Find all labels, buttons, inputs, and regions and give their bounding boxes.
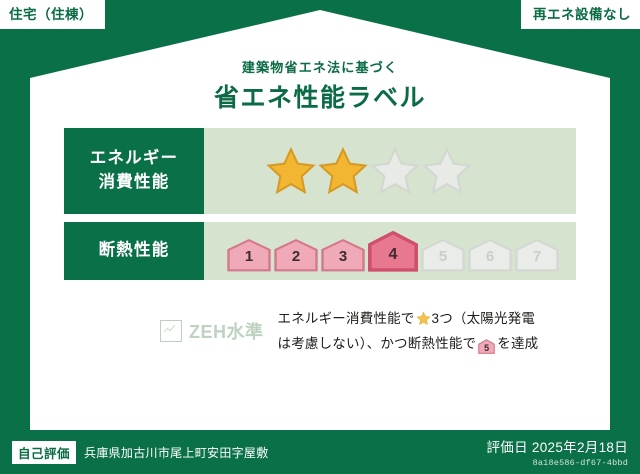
grade-badge: 6 bbox=[467, 238, 513, 272]
building-type-tag: 住宅（住棟） bbox=[0, 0, 105, 29]
inline-grade-value: 5 bbox=[478, 339, 495, 358]
title-subtitle: 建築物省エネ法に基づく bbox=[0, 57, 640, 76]
star-filled-icon bbox=[266, 146, 316, 196]
footer-right: 評価日 2025年2月18日 8a18e586-df67-4bbd bbox=[486, 436, 628, 468]
grade-value: 7 bbox=[533, 249, 541, 272]
insulation-performance-row: 断熱性能 1234567 bbox=[64, 222, 576, 280]
energy-performance-row: エネルギー 消費性能 bbox=[64, 128, 576, 214]
inline-star-icon bbox=[416, 311, 431, 333]
note-text-2: 3つ（太陽光発電 bbox=[432, 311, 536, 326]
note-text-3: は考慮しない）、かつ断熱性能で bbox=[278, 336, 477, 351]
grade-value: 1 bbox=[245, 249, 253, 272]
zeh-checkbox-icon bbox=[160, 320, 182, 342]
zeh-label: ZEH水準 bbox=[189, 318, 264, 344]
grade-value: 3 bbox=[339, 249, 347, 272]
grade-scale: 1234567 bbox=[226, 230, 560, 272]
grade-value: 2 bbox=[292, 249, 300, 272]
grade-value: 6 bbox=[486, 249, 494, 272]
energy-label-line1: エネルギー bbox=[90, 147, 179, 171]
label-footer: 自己評価 兵庫県加古川市尾上町安田字屋敷 評価日 2025年2月18日 8a18… bbox=[0, 430, 640, 474]
star-rating bbox=[266, 146, 472, 196]
star-empty-icon bbox=[422, 146, 472, 196]
renewable-energy-tag: 再エネ設備なし bbox=[521, 0, 640, 29]
star-filled-icon bbox=[318, 146, 368, 196]
page-title: 省エネ性能ラベル bbox=[0, 78, 640, 114]
energy-performance-label: 住宅（住棟） 再エネ設備なし 建築物省エネ法に基づく 省エネ性能ラベル エネルギ… bbox=[0, 0, 640, 474]
grade-badge: 3 bbox=[320, 238, 366, 272]
inline-grade-badge: 5 bbox=[478, 339, 495, 354]
evaluation-date: 評価日 2025年2月18日 bbox=[486, 436, 628, 456]
energy-performance-value bbox=[204, 128, 576, 214]
zeh-note: ZEH水準 エネルギー消費性能で3つ（太陽光発電 は考慮しない）、かつ断熱性能で… bbox=[160, 308, 610, 355]
performance-content: エネルギー 消費性能 断熱性能 1234567 bbox=[30, 128, 610, 355]
grade-badge: 5 bbox=[420, 238, 466, 272]
grade-badge: 4 bbox=[367, 230, 419, 272]
grade-value: 5 bbox=[439, 249, 447, 272]
grade-badge: 1 bbox=[226, 238, 272, 272]
insulation-label-text: 断熱性能 bbox=[99, 239, 170, 263]
energy-label-line2: 消費性能 bbox=[99, 171, 170, 195]
star-empty-icon bbox=[370, 146, 420, 196]
property-address: 兵庫県加古川市尾上町安田字屋敷 bbox=[84, 444, 269, 461]
note-text-1: エネルギー消費性能で bbox=[278, 311, 415, 326]
energy-performance-label: エネルギー 消費性能 bbox=[64, 128, 204, 214]
footer-left: 自己評価 兵庫県加古川市尾上町安田字屋敷 bbox=[12, 441, 269, 464]
grade-value: 4 bbox=[389, 247, 398, 272]
note-text-4: を達成 bbox=[497, 336, 538, 351]
zeh-standard-indicator: ZEH水準 bbox=[160, 318, 264, 344]
insulation-performance-label: 断熱性能 bbox=[64, 222, 204, 280]
grade-badge: 2 bbox=[273, 238, 319, 272]
label-id-hash: 8a18e586-df67-4bbd bbox=[486, 458, 628, 468]
self-evaluation-badge: 自己評価 bbox=[12, 441, 76, 464]
insulation-performance-value: 1234567 bbox=[204, 222, 576, 280]
grade-badge: 7 bbox=[514, 238, 560, 272]
zeh-note-text: エネルギー消費性能で3つ（太陽光発電 は考慮しない）、かつ断熱性能で5を達成 bbox=[278, 308, 539, 355]
